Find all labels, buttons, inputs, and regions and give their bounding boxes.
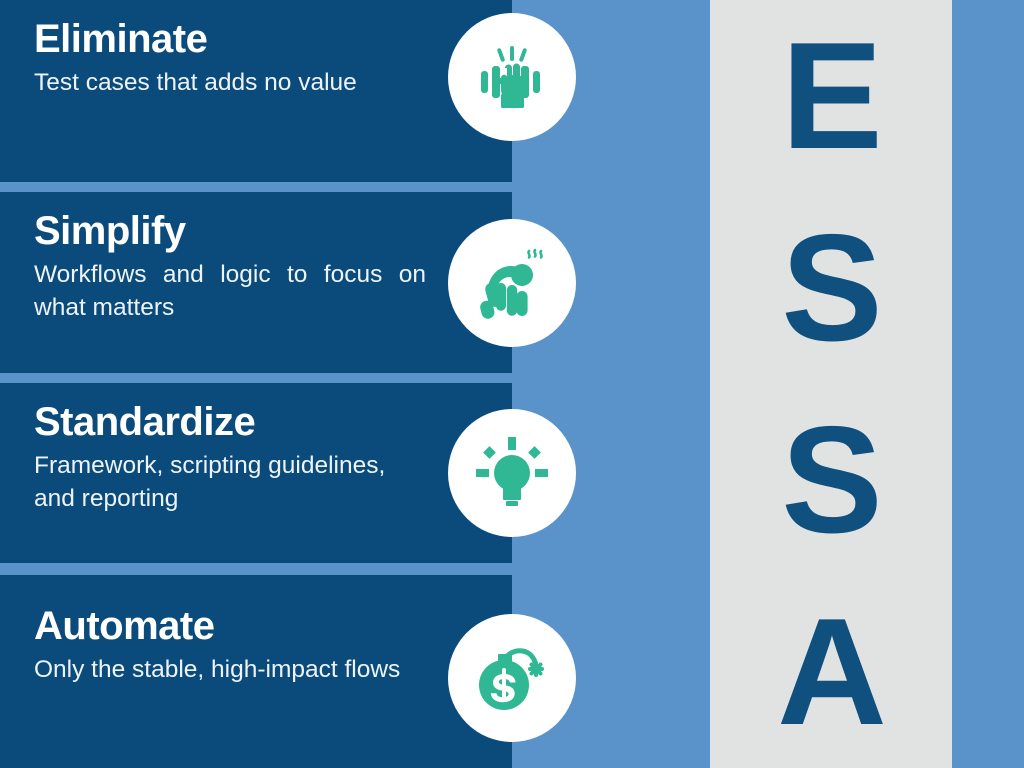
icon-badge-standardize[interactable] — [448, 409, 576, 537]
acronym-letter-cell-4: A — [710, 576, 952, 768]
row-subtitle-automate: Only the stable, high-impact flows — [34, 654, 426, 687]
acronym-letter-s2: S — [781, 404, 880, 556]
icon-badge-eliminate[interactable] — [448, 13, 576, 141]
lightbulb-idea-icon — [472, 433, 552, 513]
infographic-canvas: E S S A Eliminate Test cases that adds n… — [0, 0, 1024, 768]
row-simplify[interactable]: Simplify Workflows and logic to focus on… — [0, 192, 512, 373]
icon-badge-simplify[interactable] — [448, 219, 576, 347]
row-subtitle-standardize: Framework, scripting guidelines, and rep… — [34, 450, 426, 515]
acronym-letter-cell-1: E — [710, 0, 952, 192]
content-rows: Eliminate Test cases that adds no value … — [0, 0, 512, 768]
tired-person-icon — [472, 243, 552, 323]
acronym-letter-a: A — [777, 596, 885, 748]
row-title-automate: Automate — [34, 605, 442, 648]
row-automate[interactable]: Automate Only the stable, high-impact fl… — [0, 575, 512, 768]
row-subtitle-eliminate: Test cases that adds no value — [34, 67, 426, 100]
icon-badge-automate[interactable] — [448, 614, 576, 742]
acronym-panel: E S S A — [710, 0, 952, 768]
row-title-simplify: Simplify — [34, 210, 442, 253]
fist-dumbbell-icon — [473, 38, 551, 116]
row-title-standardize: Standardize — [34, 401, 442, 444]
acronym-letter-e: E — [781, 20, 880, 172]
row-title-eliminate: Eliminate — [34, 18, 442, 61]
row-standardize[interactable]: Standardize Framework, scripting guideli… — [0, 383, 512, 563]
acronym-letter-cell-2: S — [710, 192, 952, 384]
row-eliminate[interactable]: Eliminate Test cases that adds no value — [0, 0, 512, 182]
acronym-letter-s1: S — [781, 212, 880, 364]
row-subtitle-simplify: Workflows and logic to focus on what mat… — [34, 259, 426, 324]
money-bomb-icon — [471, 637, 553, 719]
acronym-letter-cell-3: S — [710, 384, 952, 576]
